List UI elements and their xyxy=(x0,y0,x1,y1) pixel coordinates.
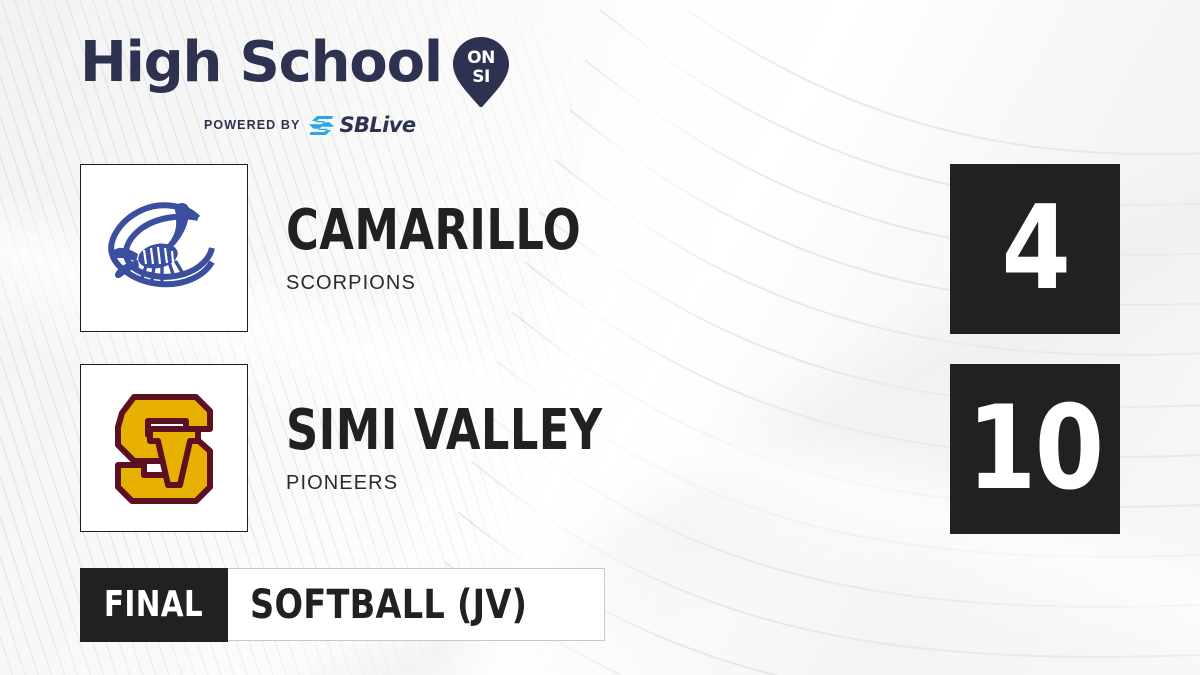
powered-by-label: POWERED BY xyxy=(204,118,300,132)
sblive-wordmark: SBLive xyxy=(339,113,415,137)
team-mascot: SCORPIONS xyxy=(286,272,655,295)
score-box-home: 10 xyxy=(950,364,1120,534)
powered-by-row: POWERED BY SBLive xyxy=(204,113,510,137)
game-state-badge: FINAL xyxy=(80,568,228,642)
simi-valley-pioneers-sv-logo xyxy=(80,364,248,532)
camarillo-scorpions-logo xyxy=(80,164,248,332)
team-name: CAMARILLO xyxy=(286,201,581,261)
sport-label: SOFTBALL (JV) xyxy=(250,582,527,628)
game-final-scorecard: High School ON SI POWERED BY SBLive xyxy=(0,0,1200,675)
team-info-home: SIMI VALLEY PIONEERS xyxy=(286,364,682,532)
svg-text:SI: SI xyxy=(472,67,490,87)
team-name: SIMI VALLEY xyxy=(286,401,603,461)
team-info-away: CAMARILLO SCORPIONS xyxy=(286,164,655,332)
brand-logo-row: High School ON SI xyxy=(80,34,510,108)
brand-wordmark: High School xyxy=(80,34,442,92)
status-bar: FINAL SOFTBALL (JV) xyxy=(80,568,605,641)
score-value: 10 xyxy=(967,391,1102,507)
score-box-away: 4 xyxy=(950,164,1120,334)
on-si-location-pin-icon: ON SI xyxy=(452,36,510,108)
sport-label-container: SOFTBALL (JV) xyxy=(228,569,604,640)
svg-text:ON: ON xyxy=(467,48,495,68)
score-value: 4 xyxy=(1001,191,1069,307)
sblive-s-mark-icon xyxy=(309,116,334,135)
brand-header: High School ON SI POWERED BY SBLive xyxy=(80,34,510,137)
team-row-away: CAMARILLO SCORPIONS 4 xyxy=(0,164,1200,334)
game-state-label: FINAL xyxy=(104,584,203,625)
team-row-home: SIMI VALLEY PIONEERS 10 xyxy=(0,364,1200,534)
team-mascot: PIONEERS xyxy=(286,472,682,495)
